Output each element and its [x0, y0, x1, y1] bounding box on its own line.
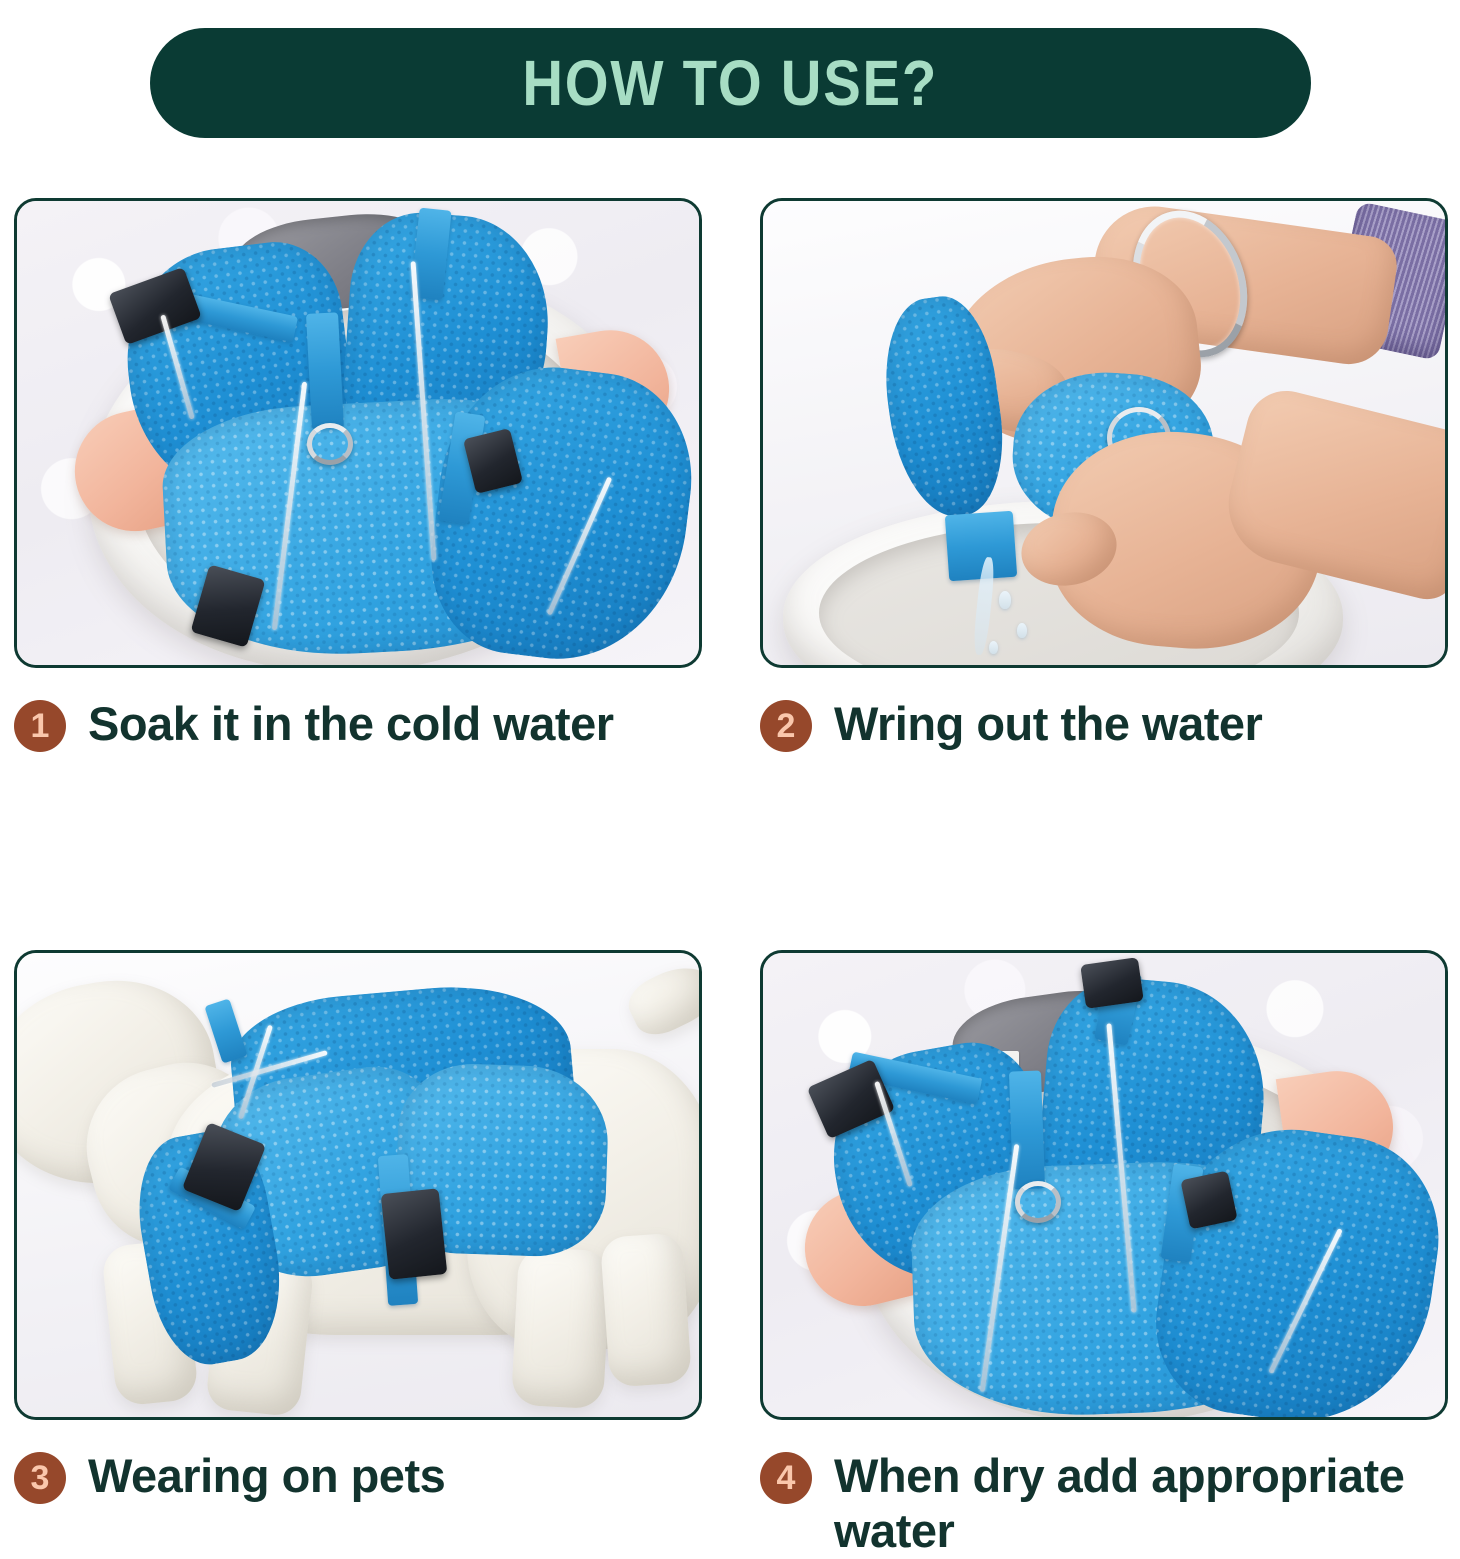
harness-d-ring	[1015, 1181, 1061, 1223]
step-cell-1: 1 Soak it in the cold water	[14, 198, 702, 752]
step-2-label: Wring out the water	[834, 696, 1262, 751]
dog-hind-leg-far	[600, 1232, 692, 1387]
step-cell-2: 2 Wring out the water	[760, 198, 1448, 752]
header-banner: HOW TO USE?	[150, 28, 1311, 138]
step-2-photo-frame	[760, 198, 1448, 668]
water-droplet-1	[999, 591, 1011, 609]
step-cell-3: 3 Wearing on pets	[14, 950, 702, 1559]
hands-wringing-harness-illustration	[763, 201, 1445, 665]
step-1-label: Soak it in the cold water	[88, 696, 614, 751]
step-2-caption: 2 Wring out the water	[760, 696, 1448, 752]
harness-dring-strap	[306, 312, 344, 430]
harness-on-dog-mannequin-illustration	[17, 953, 699, 1417]
step-2-number-badge: 2	[760, 700, 812, 752]
step-1-photo-frame	[14, 198, 702, 668]
harness-rewet-in-basin-illustration	[763, 953, 1445, 1417]
step-3-photo-frame	[14, 950, 702, 1420]
steps-row-bottom: 3 Wearing on pets	[14, 950, 1448, 1559]
dog-hind-leg-near	[511, 1247, 611, 1410]
steps-grid: 1 Soak it in the cold water	[14, 198, 1448, 1559]
harness-d-ring	[307, 423, 353, 465]
harness-buckle-top	[1080, 957, 1144, 1009]
step-3-caption: 3 Wearing on pets	[14, 1448, 702, 1504]
step-4-photo-frame	[760, 950, 1448, 1420]
step-4-label: When dry add appropriate water	[834, 1448, 1448, 1559]
step-cell-4: 4 When dry add appropriate water	[760, 950, 1448, 1559]
harness-soaking-in-basin-illustration	[17, 201, 699, 665]
water-droplet-2	[1017, 623, 1027, 638]
harness-buckle-right	[1180, 1171, 1237, 1230]
water-droplet-3	[989, 641, 998, 654]
step-1-number-badge: 1	[14, 700, 66, 752]
harness-buckle-girth	[381, 1188, 448, 1280]
step-1-caption: 1 Soak it in the cold water	[14, 696, 702, 752]
step-3-label: Wearing on pets	[88, 1448, 445, 1503]
step-4-caption: 4 When dry add appropriate water	[760, 1448, 1448, 1559]
steps-row-top: 1 Soak it in the cold water	[14, 198, 1448, 752]
page-title: HOW TO USE?	[523, 46, 939, 120]
